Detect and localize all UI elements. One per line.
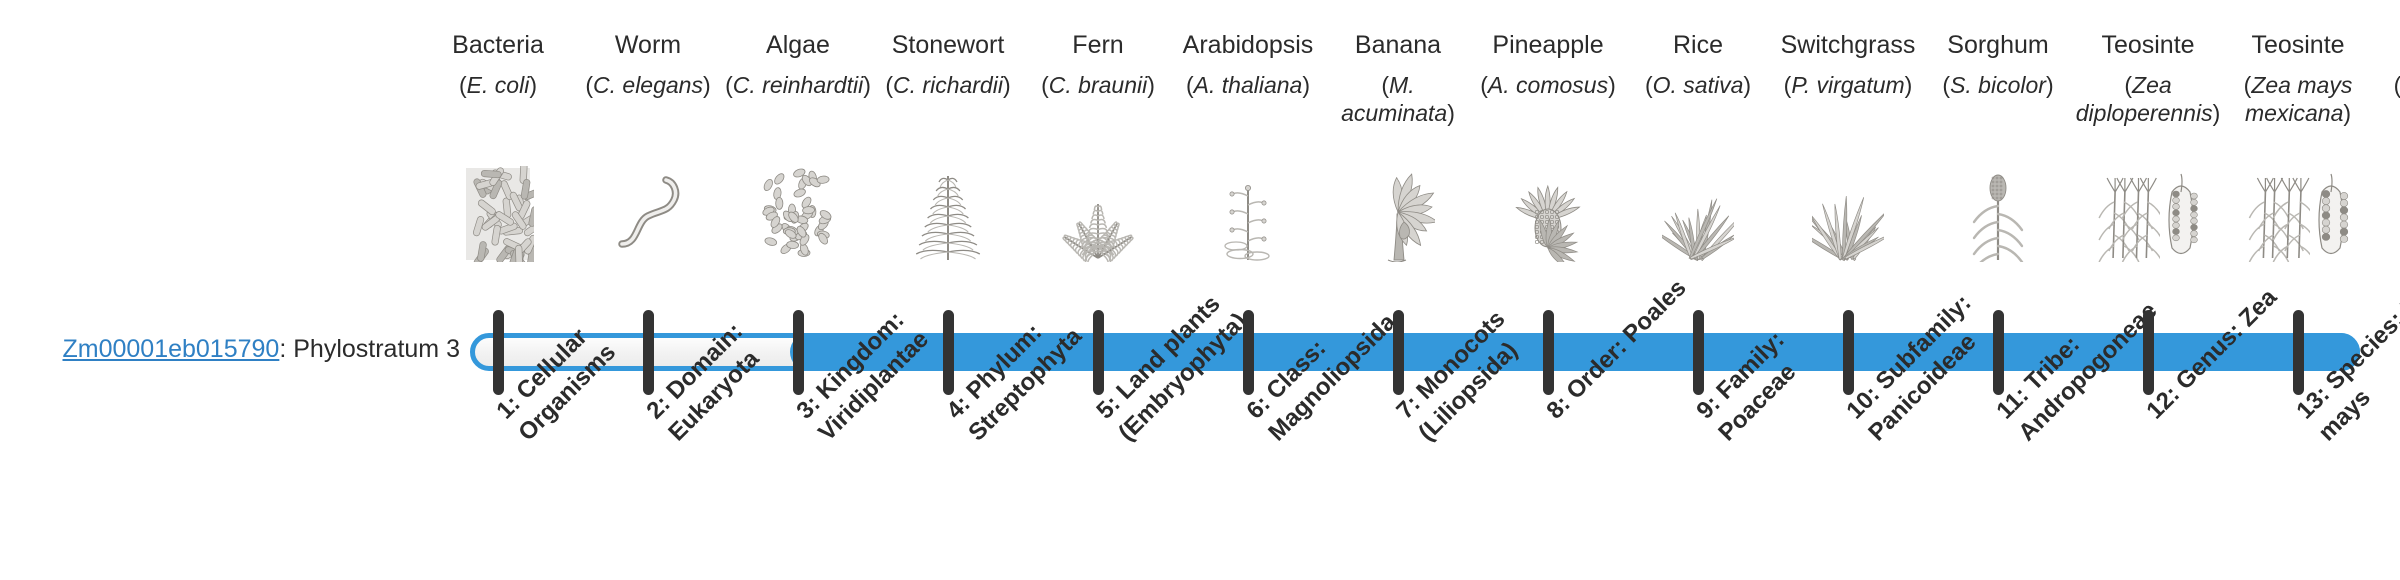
species-column-sorghum-10: Sorghum(S. bicolor) — [1923, 30, 2073, 99]
phylostratum-tick-3[interactable] — [793, 310, 804, 395]
phylostratum-value: Phylostratum 3 — [293, 335, 460, 363]
species-common-name: Banana — [1323, 30, 1473, 61]
phylostratum-tick-8[interactable] — [1543, 310, 1554, 395]
species-column-teosinte-12: Teosinte(Zea mays mexicana) — [2223, 30, 2373, 127]
teosinte-mexicana-icon — [2223, 166, 2373, 262]
species-scientific-text: C. richardii — [893, 72, 1003, 98]
species-scientific-name: (P. virgatum) — [1773, 71, 1923, 99]
switchgrass-icon — [1773, 166, 1923, 262]
species-scientific-name: (O. sativa) — [1623, 71, 1773, 99]
species-column-switchgrass-9: Switchgrass(P. virgatum) — [1773, 30, 1923, 99]
phylostratum-tick-13[interactable] — [2293, 310, 2304, 395]
species-scientific-text: Zea diploperennis — [2076, 72, 2213, 126]
phylostratum-rank: Monocots (Liliopsida) — [1411, 305, 1523, 446]
species-scientific-name: (A. thaliana) — [1173, 71, 1323, 99]
species-column-algae-2: Algae(C. reinhardtii) — [723, 30, 873, 99]
species-scientific-text: O. sativa — [1653, 72, 1744, 98]
species-common-name: Rice — [1623, 30, 1773, 61]
species-scientific-text: P. virgatum — [1791, 72, 1904, 98]
species-common-name: Arabidopsis — [1173, 30, 1323, 61]
teosinte-diploperennis-icon — [2073, 166, 2223, 262]
species-scientific-text: E. coli — [467, 72, 530, 98]
banana-icon — [1323, 166, 1473, 262]
species-common-name: Maize — [2373, 30, 2400, 61]
species-scientific-name: (Zea mays mexicana) — [2223, 71, 2373, 127]
species-column-teosinte-11: Teosinte(Zea diploperennis) — [2073, 30, 2223, 127]
species-scientific-name: (C. richardii) — [873, 71, 1023, 99]
species-common-name: Stonewort — [873, 30, 1023, 61]
species-common-name: Bacteria — [423, 30, 573, 61]
gene-phylostratum-label: Zm00001eb015790: Phylostratum 3 — [40, 334, 460, 364]
species-common-name: Pineapple — [1473, 30, 1623, 61]
species-column-arabidopsis-5: Arabidopsis(A. thaliana) — [1173, 30, 1323, 99]
species-scientific-text: C. braunii — [1049, 72, 1147, 98]
species-common-name: Teosinte — [2223, 30, 2373, 61]
species-common-name: Algae — [723, 30, 873, 61]
gene-id-link[interactable]: Zm00001eb015790 — [62, 335, 279, 363]
species-column-maize-13: Maize(Zea mays mays) — [2373, 30, 2400, 127]
species-scientific-text: A. thaliana — [1194, 72, 1303, 98]
phylostratum-rank: Kingdom: Viridiplantae — [811, 306, 934, 446]
species-scientific-text: A. comosus — [1488, 72, 1608, 98]
pineapple-icon — [1473, 166, 1623, 262]
species-column-banana-6: Banana(M. acuminata) — [1323, 30, 1473, 127]
rice-icon — [1623, 166, 1773, 262]
phylostratum-tick-7[interactable] — [1393, 310, 1404, 395]
species-common-name: Switchgrass — [1773, 30, 1923, 61]
species-column-fern-4: Fern(C. braunii) — [1023, 30, 1173, 99]
phylostratum-tick-4[interactable] — [943, 310, 954, 395]
species-common-name: Worm — [573, 30, 723, 61]
species-scientific-text: C. elegans — [593, 72, 703, 98]
species-scientific-name: (A. comosus) — [1473, 71, 1623, 99]
phylostratum-rank: Tribe: Andropogoneae — [2013, 297, 2162, 446]
species-scientific-text: S. bicolor — [1950, 72, 2046, 98]
species-scientific-name: (Zea diploperennis) — [2073, 71, 2223, 127]
species-column-pineapple-7: Pineapple(A. comosus) — [1473, 30, 1623, 99]
bacteria-icon — [423, 166, 573, 262]
species-scientific-name: (S. bicolor) — [1923, 71, 2073, 99]
species-scientific-text: Zea mays mexicana — [2245, 72, 2352, 126]
phylostratum-rank: Class: Magnoliopsida — [1261, 309, 1401, 447]
phylostratum-tick-2[interactable] — [643, 310, 654, 395]
worm-icon — [573, 166, 723, 262]
phylostratum-rank: Subfamily: Panicoideae — [1863, 289, 1981, 446]
phylostratum-tick-9[interactable] — [1693, 310, 1704, 395]
phylostratum-tick-11[interactable] — [1993, 310, 2004, 395]
species-scientific-name: (M. acuminata) — [1323, 71, 1473, 127]
species-column-worm-1: Worm(C. elegans) — [573, 30, 723, 99]
phylostratum-tick-5[interactable] — [1093, 310, 1104, 395]
species-scientific-name: (C. braunii) — [1023, 71, 1173, 99]
phylostratum-timeline-figure: Zm00001eb015790: Phylostratum 3 Bacteria… — [0, 0, 2400, 580]
species-scientific-text: C. reinhardtii — [733, 72, 863, 98]
maize-icon — [2373, 166, 2400, 262]
phylostratum-tick-10[interactable] — [1843, 310, 1854, 395]
stonewort-icon — [873, 166, 1023, 262]
species-common-name: Teosinte — [2073, 30, 2223, 61]
species-scientific-text: M. acuminata — [1341, 72, 1447, 126]
species-common-name: Sorghum — [1923, 30, 2073, 61]
species-scientific-name: (C. reinhardtii) — [723, 71, 873, 99]
species-column-bacteria-0: Bacteria(E. coli) — [423, 30, 573, 99]
species-scientific-name: (Zea mays mays) — [2373, 71, 2400, 127]
phylostratum-tick-1[interactable] — [493, 310, 504, 395]
species-scientific-name: (E. coli) — [423, 71, 573, 99]
species-header-row: Bacteria(E. coli)Worm(C. elegans)Algae(C… — [0, 0, 2400, 310]
species-column-stonewort-3: Stonewort(C. richardii) — [873, 30, 1023, 99]
gene-label-separator: : — [279, 335, 293, 363]
species-scientific-name: (C. elegans) — [573, 71, 723, 99]
sorghum-icon — [1923, 166, 2073, 262]
phylostratum-tick-6[interactable] — [1243, 310, 1254, 395]
phylostratum-tick-12[interactable] — [2143, 310, 2154, 395]
species-column-rice-8: Rice(O. sativa) — [1623, 30, 1773, 99]
algae-icon — [723, 166, 873, 262]
species-common-name: Fern — [1023, 30, 1173, 61]
arabidopsis-icon — [1173, 166, 1323, 262]
fern-icon — [1023, 166, 1173, 262]
